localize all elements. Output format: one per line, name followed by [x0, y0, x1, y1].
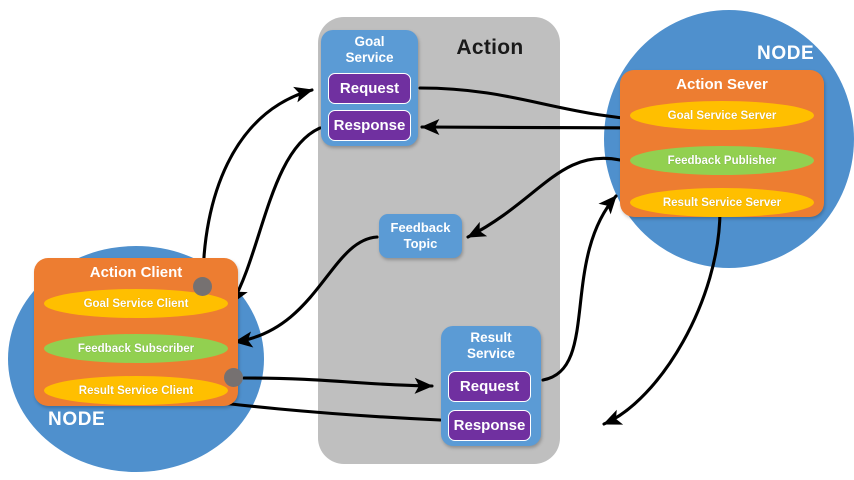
wire-goalresponse-to-goalclient: [232, 128, 320, 303]
result-service-request[interactable]: Request: [448, 371, 531, 402]
goal-service-box: Goal Service Request Response: [321, 30, 418, 146]
action-server-title: Action Sever: [620, 76, 824, 93]
result-service-title-line1: Result: [470, 330, 511, 345]
goal-service-request[interactable]: Request: [328, 73, 411, 104]
result-client-junction-dot: [224, 368, 243, 387]
feedback-topic-box[interactable]: Feedback Topic: [379, 214, 462, 258]
pill-result-service-server[interactable]: Result Service Server: [630, 188, 814, 217]
pill-goal-service-server[interactable]: Goal Service Server: [630, 101, 814, 130]
action-group-title: Action: [430, 36, 550, 60]
client-node-label: NODE: [48, 409, 105, 431]
wire-goalclient-to-goalrequest: [203, 90, 312, 283]
result-service-title-line2: Service: [467, 346, 515, 361]
pill-feedback-subscriber[interactable]: Feedback Subscriber: [44, 334, 228, 363]
action-server-box: Action Sever Goal Service Server Feedbac…: [620, 70, 824, 217]
feedback-topic-line1: Feedback: [391, 220, 451, 236]
goal-service-title-line2: Service: [345, 50, 393, 65]
goal-service-title-line1: Goal: [354, 34, 384, 49]
server-node-label: NODE: [757, 43, 814, 65]
diagram-canvas: Action: [0, 0, 854, 480]
goal-service-title: Goal Service: [321, 34, 418, 66]
goal-client-junction-dot: [193, 277, 212, 296]
pill-feedback-publisher[interactable]: Feedback Publisher: [630, 146, 814, 175]
result-service-box: Result Service Request Response: [441, 326, 541, 446]
pill-result-service-client[interactable]: Result Service Client: [44, 376, 228, 405]
result-service-response[interactable]: Response: [448, 410, 531, 441]
goal-service-response[interactable]: Response: [328, 110, 411, 141]
feedback-topic-line2: Topic: [404, 236, 438, 252]
result-service-title: Result Service: [441, 330, 541, 362]
